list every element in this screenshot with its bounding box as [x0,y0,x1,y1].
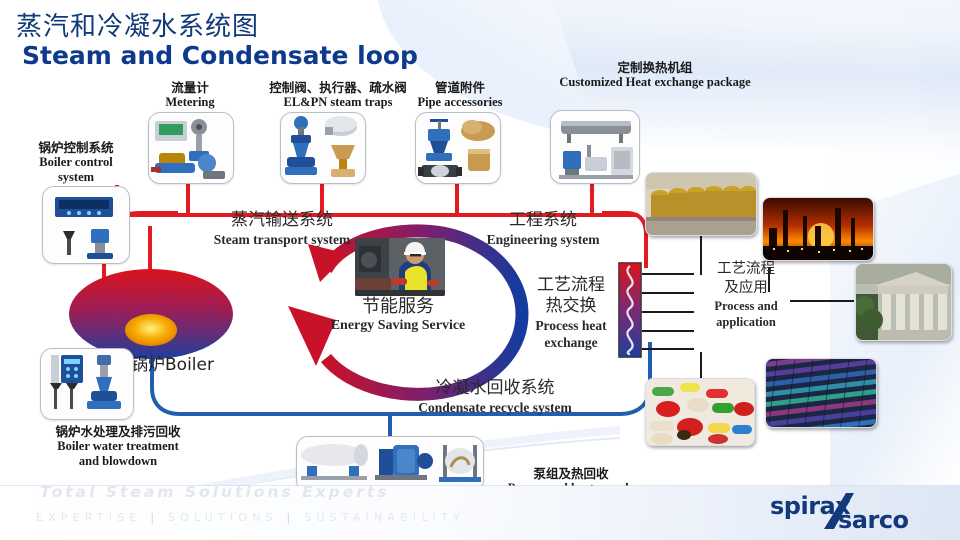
label-steam-transport-en: Steam transport system [182,231,382,248]
product-box-steam-traps[interactable] [280,112,366,184]
label-boiler-control-en2: system [24,170,128,185]
label-steam-transport: 蒸汽输送系统 Steam transport system [182,210,382,248]
app-photo-refinery [762,197,874,261]
product-box-boiler-water-treatment[interactable] [40,348,134,420]
label-process-app-en2: application [692,314,800,330]
footer-separator-1: | [150,511,159,524]
footer-pillar-sustainability: SUSTAINABILITY [304,511,465,524]
product-box-pipe-accessories[interactable] [415,112,501,184]
label-condensate-en: Condensate recycle system [400,399,590,416]
label-engineering-system: 工程系统 Engineering system [448,210,638,248]
label-engineering-system-cn: 工程系统 [448,210,638,231]
label-boiler-water-en1: Boiler water treatment [28,439,208,454]
label-steam-traps-cn: 控制阀、执行器、疏水阀 [258,80,418,95]
label-heat-exchange-en: Customized Heat exchange package [530,75,780,90]
label-metering-en: Metering [150,95,230,110]
product-box-metering[interactable] [148,112,234,184]
label-process-heat-cn1: 工艺流程 [516,275,626,296]
hx-outlet-3 [642,311,694,313]
label-energy-saving-cn: 节能服务 [308,296,488,317]
steam-pipe-drop-heat-package [590,180,594,214]
engineer-photo [355,238,445,296]
label-energy-saving: 节能服务 Energy Saving Service [308,296,488,334]
footer-pillar-expertise: EXPERTISE [36,511,142,524]
app-photo-building [855,263,952,341]
hx-outlet-5 [642,348,694,350]
label-process-heat-en2: exchange [516,334,626,351]
product-box-heat-exchange-package[interactable] [550,110,640,184]
label-boiler-water-en2: and blowdown [28,454,208,469]
hx-outlet-4 [642,330,694,332]
label-pipe-accessories-cn: 管道附件 [400,80,520,95]
label-condensate-cn: 冷凝水回收系统 [400,378,590,399]
label-process-application: 工艺流程 及应用 Process and application [692,260,800,330]
label-steam-traps: 控制阀、执行器、疏水阀 EL&PN steam traps [258,80,418,110]
footer-pillars: EXPERTISE | SOLUTIONS | SUSTAINABILITY [36,511,465,524]
footer-tagline: Total Steam Solutions Experts [40,483,390,501]
label-process-heat-en1: Process heat [516,317,626,334]
label-pumps-cn: 泵组及热回收 [486,466,656,481]
page-title-cn: 蒸汽和冷凝水系统图 [16,6,259,43]
app-photo-textile [765,358,877,428]
boiler-label: 锅炉Boiler [131,350,214,375]
label-metering-cn: 流量计 [150,80,230,95]
steam-pipe-drop-traps [320,180,324,214]
label-metering: 流量计 Metering [150,80,230,110]
label-process-app-cn1: 工艺流程 [692,260,800,279]
logo-slash-icon [824,493,854,529]
steam-pipe-drop-metering [186,180,190,214]
label-pipe-accessories-en: Pipe accessories [400,95,520,110]
hx-outlet-1 [642,273,694,275]
spirax-sarco-logo: spirax sarco [770,492,950,530]
label-process-app-cn2: 及应用 [692,279,800,298]
label-steam-transport-cn: 蒸汽输送系统 [182,210,382,231]
label-boiler-control-cn: 锅炉控制系统 [24,140,128,155]
label-condensate-recycle: 冷凝水回收系统 Condensate recycle system [400,378,590,416]
label-heat-exchange-package: 定制换热机组 Customized Heat exchange package [530,60,780,90]
label-process-heat-cn2: 热交换 [516,296,626,317]
steam-riser-to-boiler [148,226,152,272]
label-heat-exchange-cn: 定制换热机组 [530,60,780,75]
label-boiler-control-system: 锅炉控制系统 Boiler control system [24,140,128,185]
condensate-drop-pumps [388,414,392,436]
footer-separator-2: | [287,511,296,524]
label-process-heat-exchange: 工艺流程 热交换 Process heat exchange [516,275,626,351]
label-engineering-system-en: Engineering system [448,231,638,248]
label-process-app-en1: Process and [692,298,800,314]
footer-pillar-solutions: SOLUTIONS [168,511,278,524]
hx-outlet-2 [642,292,694,294]
label-steam-traps-en: EL&PN steam traps [258,95,418,110]
app-photo-pharma [645,378,755,446]
product-box-boiler-control-system[interactable] [42,186,130,264]
app-photo-brewery [645,172,757,236]
label-energy-saving-en: Energy Saving Service [308,317,488,334]
boiler-vessel [68,268,234,360]
page-title-en: Steam and Condensate loop [22,41,418,70]
slide-canvas: 蒸汽和冷凝水系统图 Steam and Condensate loop [0,0,960,540]
steam-pipe-drop-pipe-accessories [455,180,459,214]
label-boiler-control-en1: Boiler control [24,155,128,170]
label-pipe-accessories: 管道附件 Pipe accessories [400,80,520,110]
